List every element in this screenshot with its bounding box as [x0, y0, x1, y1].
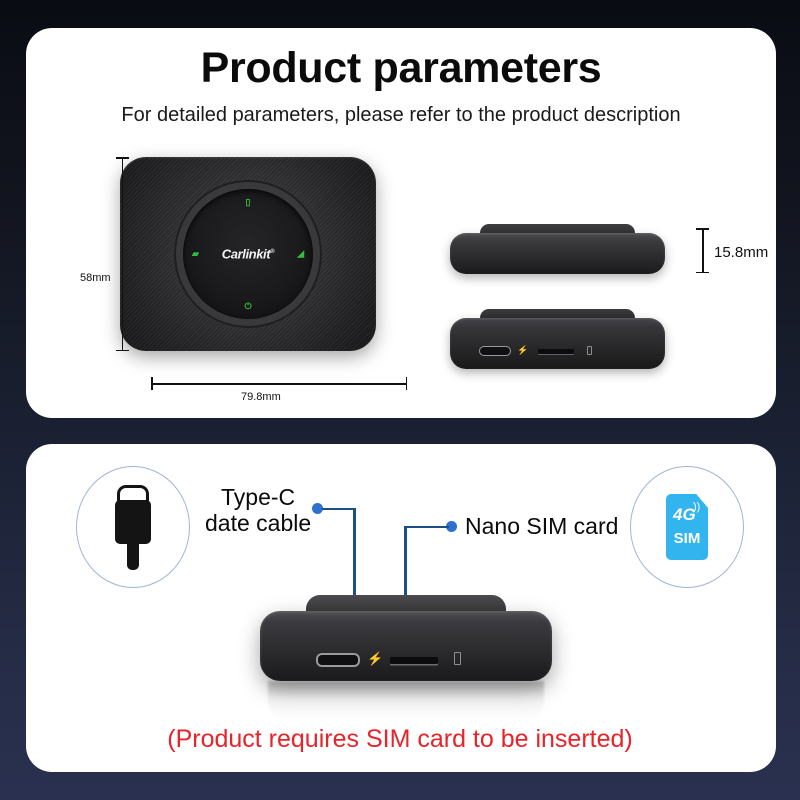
device-side-view-ports: ⚡	[450, 309, 665, 369]
nano-sim-slot-icon	[390, 657, 438, 664]
power-indicator-icon: ⏻	[244, 302, 251, 311]
callout-label-nano-sim: Nano SIM card	[465, 514, 618, 540]
device-port-closeup: ⚡	[260, 595, 552, 681]
device-side-view-top	[450, 224, 665, 274]
height-dimension-line	[122, 157, 123, 351]
dimension-tick	[696, 272, 709, 274]
sim-required-warning: (Product requires SIM card to be inserte…	[0, 725, 800, 754]
device-front-view: Carlinkit® ▯ ▰ ◢ ⏻	[120, 157, 376, 351]
wifi-indicator-icon: ▰	[192, 250, 199, 259]
sim-slot-icon	[538, 349, 574, 354]
signal-indicator-icon: ◢	[297, 250, 304, 259]
thickness-dimension-label: 15.8mm	[714, 244, 768, 261]
typec-cable-badge	[76, 466, 190, 588]
typec-cable-cord	[127, 542, 139, 570]
callout-leader-typec	[322, 508, 356, 511]
usb-type-c-cable-icon	[107, 485, 159, 569]
width-dimension-label: 79.8mm	[241, 391, 281, 403]
usb-c-port-icon	[479, 346, 511, 356]
page-subtitle: For detailed parameters, please refer to…	[26, 104, 776, 127]
brand-logo: Carlinkit®	[222, 247, 274, 262]
brand-logo-text: Carlinkit	[222, 247, 270, 262]
sim-card-badge: 4G )) SIM	[630, 466, 744, 588]
usb-c-port-icon	[316, 653, 360, 667]
height-dimension-label: 58mm	[80, 272, 111, 284]
device-front-edge: ⚡	[260, 611, 552, 681]
callout-label-typec: Type-C date cable	[205, 485, 311, 537]
sim-label: SIM	[666, 530, 708, 547]
dimension-tick	[116, 157, 129, 159]
trademark-symbol: ®	[270, 249, 274, 255]
callout-leader-nano-sim	[404, 526, 449, 529]
device-side-body	[450, 233, 665, 274]
page-title: Product parameters	[26, 44, 776, 93]
charging-bolt-icon: ⚡	[367, 651, 383, 667]
product-parameters-panel: Product parameters For detailed paramete…	[26, 28, 776, 418]
thickness-dimension-line	[702, 228, 704, 273]
device-side-body: ⚡	[450, 318, 665, 369]
charging-bolt-icon: ⚡	[517, 345, 528, 356]
device-reflection	[268, 681, 544, 721]
dimension-tick	[696, 228, 709, 230]
sim-card-marker-icon	[587, 346, 592, 355]
dimension-tick	[151, 377, 153, 390]
typec-connector-shell	[115, 500, 151, 544]
4g-sim-card-icon: 4G )) SIM	[666, 494, 708, 560]
signal-wave-icon: ))	[693, 502, 700, 513]
dimension-tick	[406, 377, 408, 390]
battery-indicator-icon: ▯	[246, 198, 251, 207]
dimension-tick	[116, 350, 129, 352]
device-front-disc: Carlinkit® ▯ ▰ ◢ ⏻	[183, 189, 313, 319]
sim-card-marker-icon	[454, 652, 461, 665]
width-dimension-line	[151, 383, 407, 385]
